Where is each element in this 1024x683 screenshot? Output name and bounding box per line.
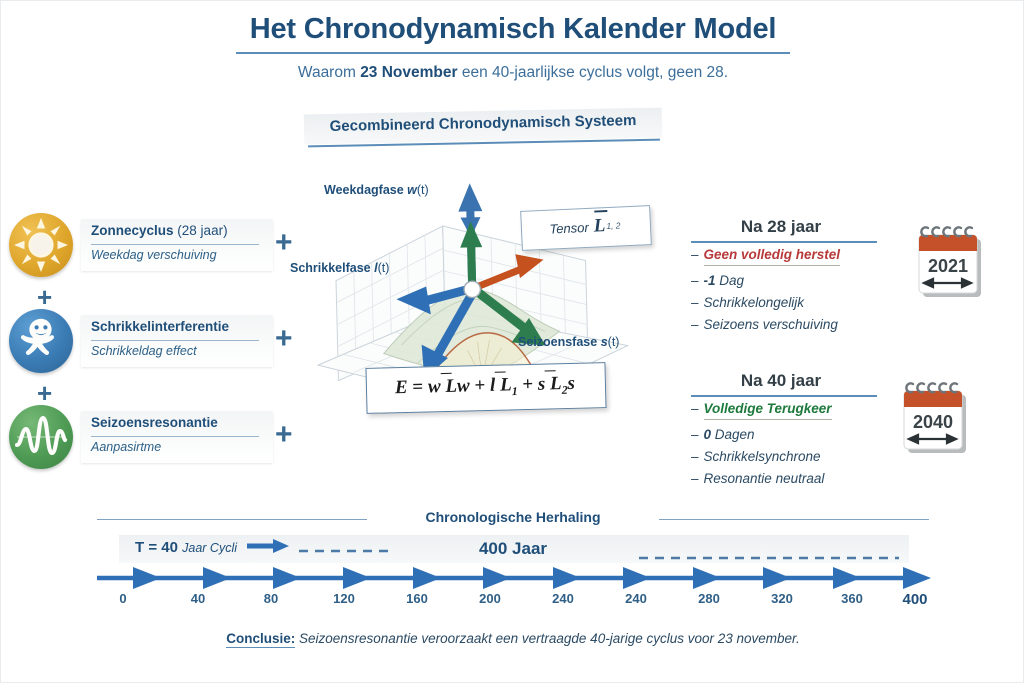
timeline-axis	[97, 567, 933, 589]
page-subtitle: Waarom 23 November een 40-jaarlijkse cyc…	[1, 64, 1024, 82]
tick-label: 0	[119, 591, 126, 606]
axis-label-schrikkelfase-arg: (t)	[378, 261, 390, 275]
subtitle-post: een 40-jaarlijkse cyclus volgt, geen 28.	[458, 64, 729, 81]
bullet-dash: –	[691, 427, 699, 442]
plus-sign: +	[275, 419, 293, 451]
page-title: Het Chronodynamisch Kalender Model	[236, 13, 791, 54]
result-item-highlight: –Geen volledig herstel	[691, 247, 921, 266]
feature-title: Seizoensresonantie	[91, 415, 267, 430]
calendar-icon-2021: 2021	[916, 223, 992, 301]
axis-label-seizoensfase-text: Seizoensfase	[518, 335, 597, 349]
bullet-dash: –	[691, 471, 699, 486]
bullet-dash: –	[691, 449, 699, 464]
plus-sign: +	[275, 323, 293, 355]
result-item-value: -1	[704, 273, 716, 288]
result-item-highlight: –Volledige Terugkeer	[691, 401, 921, 420]
bullet-dash: –	[691, 317, 699, 332]
tick-label: 160	[406, 591, 428, 606]
tick-label: 320	[771, 591, 793, 606]
calendar-year-2021: 2021	[928, 256, 968, 276]
result-item: –Schrikkelsynchrone	[691, 449, 921, 464]
result-item-text: Dagen	[711, 427, 755, 442]
equation-text: E = w Lw + l L1 + s L2s	[365, 362, 604, 412]
tensor-subscript: 1, 2	[606, 220, 621, 231]
axis-label-seizoensfase-var: s	[601, 335, 608, 349]
axis-label-seizoensfase: Seizoensfase s(t)	[518, 335, 619, 349]
result-item-value: 0	[704, 427, 712, 442]
timeline-ticks: 0 40 80 120 160 200 240 240 280 320 360 …	[97, 591, 933, 611]
axis-label-weekdagfase: Weekdagfase w(t)	[324, 183, 429, 197]
result-list: –Volledige Terugkeer –0 Dagen –Schrikkel…	[691, 401, 921, 493]
tensor-label-word: Tensor	[549, 219, 589, 236]
conclusion-label: Conclusie:	[226, 631, 295, 648]
result-item-text: Seizoens verschuiving	[704, 317, 838, 332]
feature-body: Zonnecyclus (28 jaar) Weekdag verschuivi…	[81, 219, 273, 271]
feature-body: Schrikkelinterferentie Schrikkeldag effe…	[81, 315, 273, 367]
subtitle-highlight: 23 November	[360, 64, 457, 81]
feature-card-seizoensresonantie[interactable]: Seizoensresonantie Aanpasirtme +	[9, 405, 299, 469]
tick-label: 400	[902, 591, 927, 608]
feature-title-text: Zonnecyclus	[91, 223, 174, 238]
conclusion: Conclusie: Seizoensresonantie veroorzaak…	[1, 631, 1024, 646]
result-title: Na 40 jaar	[691, 371, 871, 391]
feature-card-schrikkelinterferentie[interactable]: Schrikkelinterferentie Schrikkeldag effe…	[9, 309, 299, 373]
feature-title: Schrikkelinterferentie	[91, 319, 267, 334]
calendar-icon-2040: 2040	[901, 379, 977, 457]
feature-title-text: Seizoensresonantie	[91, 415, 218, 430]
bullet-dash: –	[691, 247, 699, 262]
bullet-dash: –	[691, 295, 699, 310]
axis-label-schrikkelfase: Schrikkelfase l(t)	[290, 261, 389, 275]
axis-label-weekdagfase-var: w	[407, 183, 417, 197]
tick-label: 280	[698, 591, 720, 606]
tick-label: 240	[552, 591, 574, 606]
timeline-heading: Chronologische Herhaling	[97, 509, 929, 525]
bullet-dash: –	[691, 401, 699, 416]
result-title: Na 28 jaar	[691, 217, 871, 237]
header: Het Chronodynamisch Kalender Model Waaro…	[1, 13, 1024, 82]
tensor-label-text: Tensor L1, 2	[520, 205, 650, 249]
result-highlight-text: Geen volledig herstel	[704, 247, 841, 266]
equation-rendered: E = w Lw + l L1 + s L2s	[395, 372, 576, 401]
result-divider	[691, 395, 877, 397]
plus-sign: +	[275, 227, 293, 259]
tick-label: 120	[333, 591, 355, 606]
feature-divider	[91, 244, 259, 245]
result-item-text: Schrikkelsynchrone	[704, 449, 821, 464]
tick-label: 360	[841, 591, 863, 606]
result-item: –Resonantie neutraal	[691, 471, 921, 486]
result-item-text: Dag	[716, 273, 745, 288]
calendar-year-2040: 2040	[913, 412, 953, 432]
result-item-text: Resonantie neutraal	[704, 471, 825, 486]
feature-title: Zonnecyclus (28 jaar)	[91, 223, 267, 238]
result-item: –-1 Dag	[691, 273, 921, 288]
result-list: –Geen volledig herstel –-1 Dag –Schrikke…	[691, 247, 921, 339]
result-divider	[691, 241, 877, 243]
feature-body: Seizoensresonantie Aanpasirtme	[81, 411, 273, 463]
result-item: –0 Dagen	[691, 427, 921, 442]
subtitle-pre: Waarom	[298, 64, 360, 81]
sun-icon	[9, 213, 73, 277]
feature-title-note: (28 jaar)	[177, 223, 227, 238]
person-icon	[9, 309, 73, 373]
tick-label: 80	[264, 591, 278, 606]
feature-title-text: Schrikkelinterferentie	[91, 319, 229, 334]
result-item: –Seizoens verschuiving	[691, 317, 921, 332]
tick-label: 240	[625, 591, 647, 606]
axis-label-weekdagfase-arg: (t)	[417, 183, 429, 197]
feature-card-zonnecyclus[interactable]: Zonnecyclus (28 jaar) Weekdag verschuivi…	[9, 213, 299, 277]
result-item: –Schrikkelongelijk	[691, 295, 921, 310]
axis-label-schrikkelfase-text: Schrikkelfase	[290, 261, 371, 275]
tick-label: 40	[191, 591, 205, 606]
timeline-span-label: 400 Jaar	[1, 535, 1024, 563]
axis-label-weekdagfase-text: Weekdagfase	[324, 183, 404, 197]
feature-subtitle: Aanpasirtme	[91, 440, 269, 454]
timeline-heading-row: Chronologische Herhaling	[97, 509, 929, 529]
infographic-root: Het Chronodynamisch Kalender Model Waaro…	[0, 0, 1024, 683]
tensor-symbol: L	[593, 215, 606, 237]
feature-divider	[91, 340, 259, 341]
waveform-icon	[9, 405, 73, 469]
feature-divider	[91, 436, 259, 437]
tick-label: 200	[479, 591, 501, 606]
result-highlight-text: Volledige Terugkeer	[704, 401, 832, 420]
conclusion-text: Seizoensresonantie veroorzaakt een vertr…	[299, 631, 800, 646]
feature-subtitle: Weekdag verschuiving	[91, 248, 269, 262]
bullet-dash: –	[691, 273, 699, 288]
feature-subtitle: Schrikkeldag effect	[91, 344, 269, 358]
result-item-text: Schrikkelongelijk	[704, 295, 805, 310]
axis-label-seizoensfase-arg: (t)	[608, 335, 620, 349]
